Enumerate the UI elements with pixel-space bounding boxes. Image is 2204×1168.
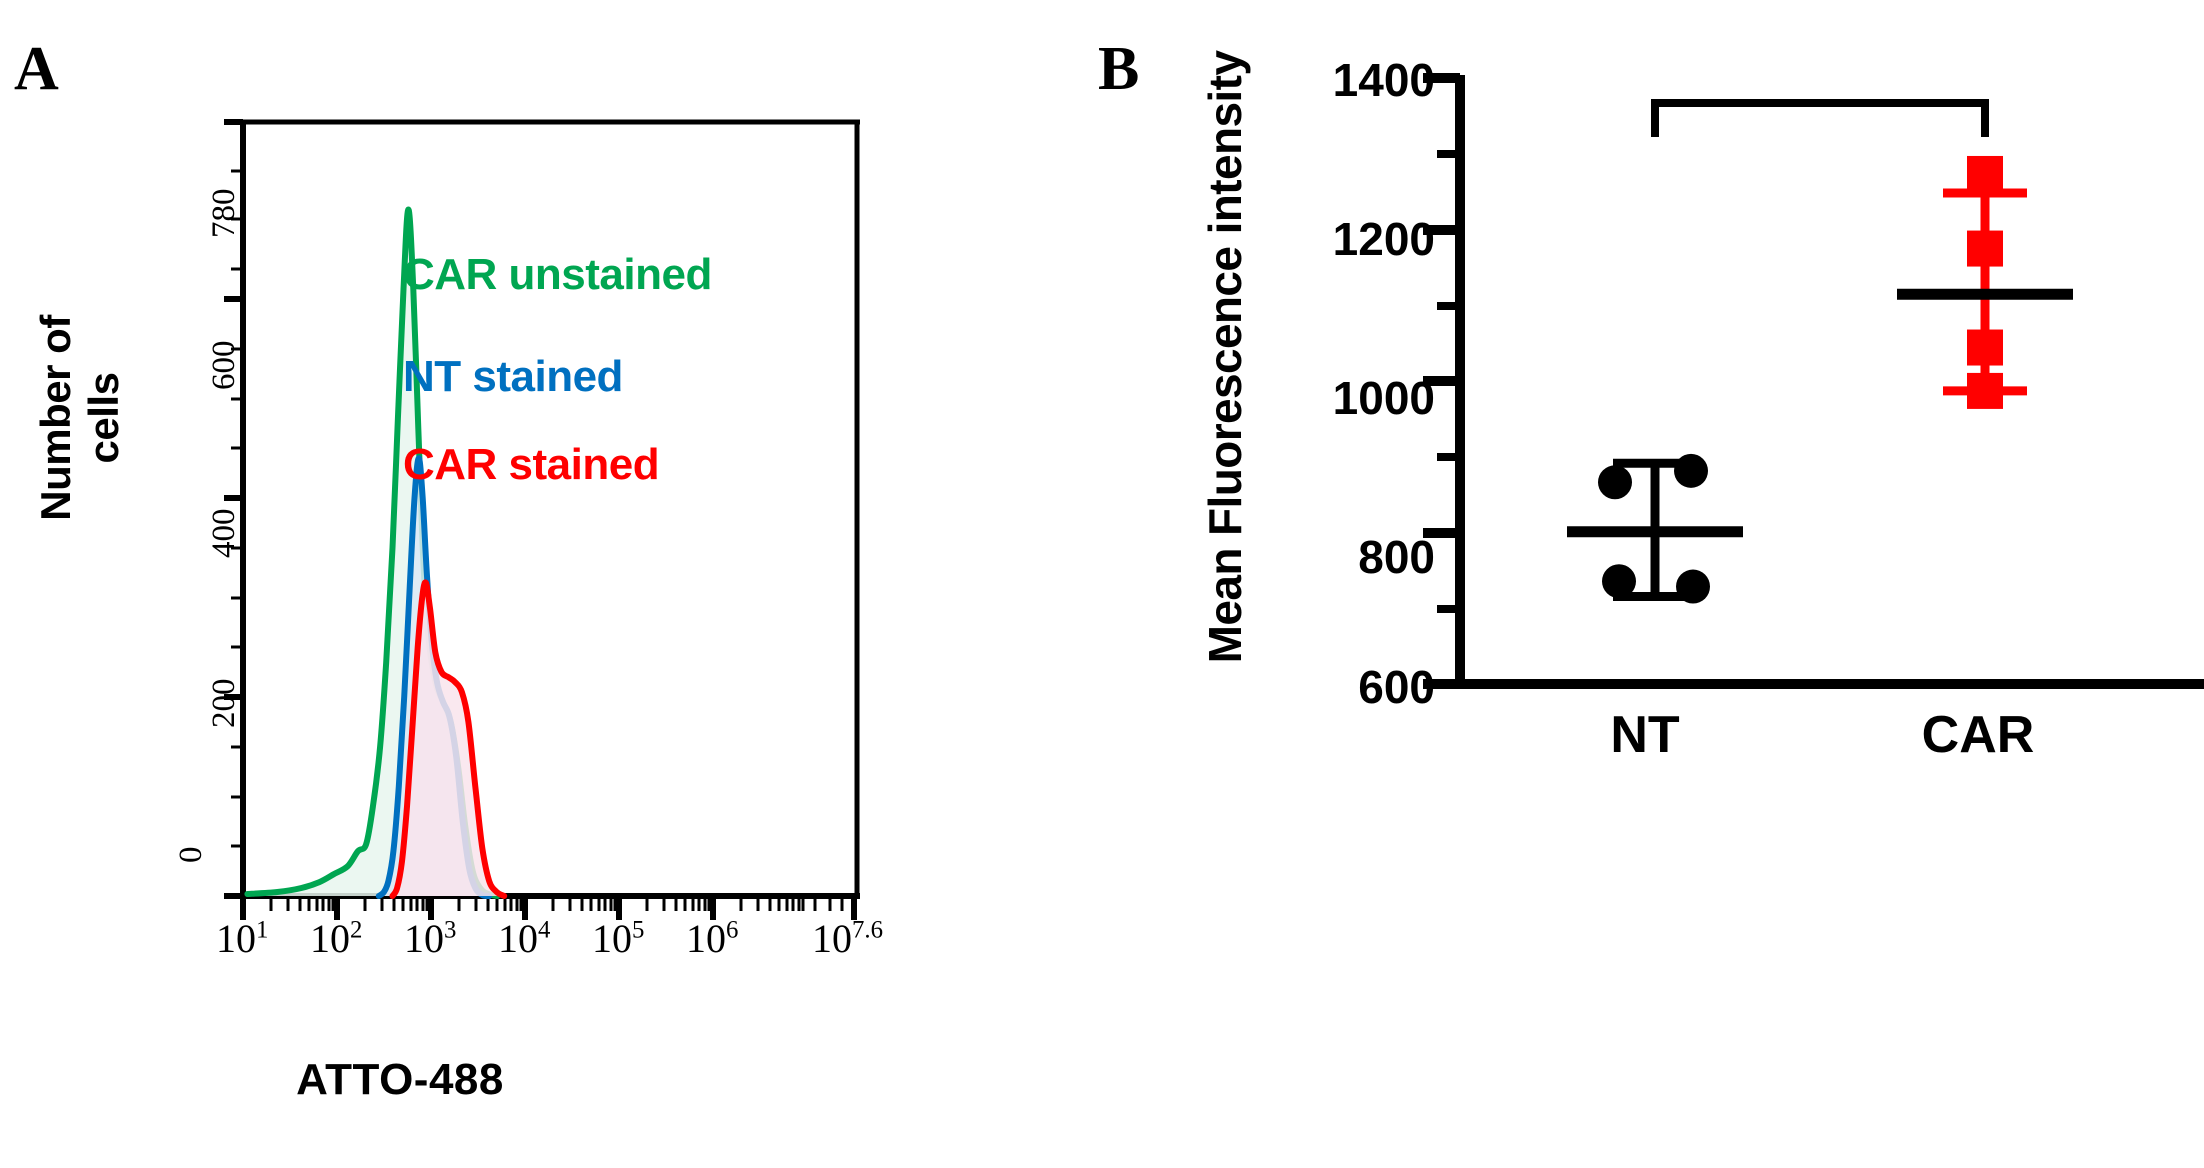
panel-b-letter: B (1098, 38, 1139, 100)
xtick-exp: 6 (726, 917, 738, 944)
data-point-car-0 (1967, 156, 2003, 192)
panel-a-xtick-10e3: 103 (404, 915, 456, 962)
xtick-base: 10 (592, 916, 632, 961)
xtick-exp: 5 (632, 917, 644, 944)
panel-b-ytick-1400: 1400 (1240, 53, 1435, 107)
panel-a-x-axis-label: ATTO-488 (170, 1055, 630, 1105)
panel-a-y-axis-label: Number of cells (32, 268, 128, 568)
xtick-exp: 7.6 (852, 917, 883, 944)
data-point-car-1 (1967, 231, 2003, 267)
panel-a-legend-car-unstained: CAR unstained (403, 250, 712, 300)
panel-a-xtick-10e2: 102 (310, 915, 362, 962)
panel-a-letter: A (14, 38, 59, 100)
panel-a-legend-car-stained: CAR stained (403, 440, 659, 490)
data-point-nt-0 (1674, 454, 1708, 488)
xtick-base: 10 (812, 916, 852, 961)
xtick-base: 10 (310, 916, 350, 961)
xtick-exp: 2 (350, 917, 362, 944)
panel-b-data-groups (1567, 156, 2073, 604)
panel-a-xtick-10e7p6: 107.6 (812, 915, 883, 962)
xtick-exp: 1 (256, 917, 268, 944)
data-point-car-2 (1967, 330, 2003, 366)
xtick-base: 10 (216, 916, 256, 961)
panel-a-xtick-10e5: 105 (592, 915, 644, 962)
panel-a-ytick-400: 400 (206, 509, 243, 559)
panel-a-ytick-0: 0 (173, 847, 210, 864)
panel-b-plot-area (1455, 75, 2204, 715)
data-point-nt-3 (1676, 570, 1710, 604)
panel-b-ytick-800: 800 (1240, 530, 1435, 584)
data-point-nt-2 (1602, 564, 1636, 598)
panel-b-significance-bracket (1655, 103, 1985, 137)
xtick-base: 10 (404, 916, 444, 961)
panel-b-y-major-ticks (1423, 78, 1460, 684)
panel-a-plot-area (240, 120, 860, 900)
group-nt (1567, 454, 1743, 604)
panel-a-legend-nt-stained: NT stained (403, 352, 623, 402)
panel-b-ytick-600: 600 (1240, 660, 1435, 714)
figure-root: A Number of cells ATTO-488 780 600 400 2… (0, 0, 2204, 1168)
panel-b-ytick-1000: 1000 (1240, 371, 1435, 425)
panel-a-ytick-780: 780 (206, 189, 243, 239)
panel-a-xtick-10e6: 106 (686, 915, 738, 962)
panel-b-ytick-1200: 1200 (1240, 212, 1435, 266)
panel-b-xtick-car: CAR (1878, 705, 2078, 765)
xtick-base: 10 (686, 916, 726, 961)
panel-a-xtick-10e4: 104 (498, 915, 550, 962)
panel-a-curves (247, 210, 504, 897)
panel-a: A Number of cells ATTO-488 780 600 400 2… (0, 0, 1060, 1168)
data-point-nt-1 (1598, 465, 1632, 499)
xtick-exp: 3 (444, 917, 456, 944)
group-car (1897, 156, 2073, 409)
panel-b-xtick-nt: NT (1560, 705, 1730, 765)
panel-a-xtick-10e1: 101 (216, 915, 268, 962)
panel-b: B Mean Fluorescence intensity 1400 1200 … (1060, 0, 2204, 1168)
panel-a-ytick-200: 200 (206, 679, 243, 729)
xtick-exp: 4 (538, 917, 550, 944)
data-point-car-3 (1967, 373, 2003, 409)
xtick-base: 10 (498, 916, 538, 961)
